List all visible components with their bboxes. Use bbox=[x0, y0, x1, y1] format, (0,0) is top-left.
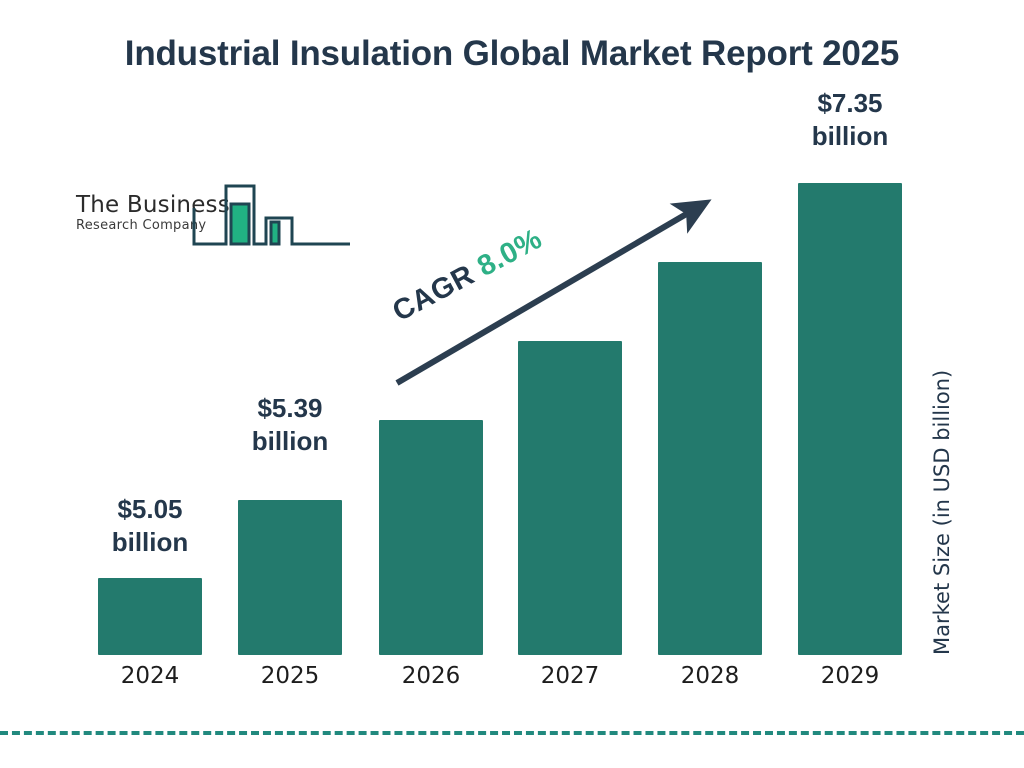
footer-divider bbox=[0, 731, 1024, 735]
y-axis-title-wrapper: Market Size (in USD billion) bbox=[0, 0, 1024, 768]
chart-canvas: Industrial Insulation Global Market Repo… bbox=[0, 0, 1024, 768]
y-axis-title: Market Size (in USD billion) bbox=[930, 325, 954, 655]
